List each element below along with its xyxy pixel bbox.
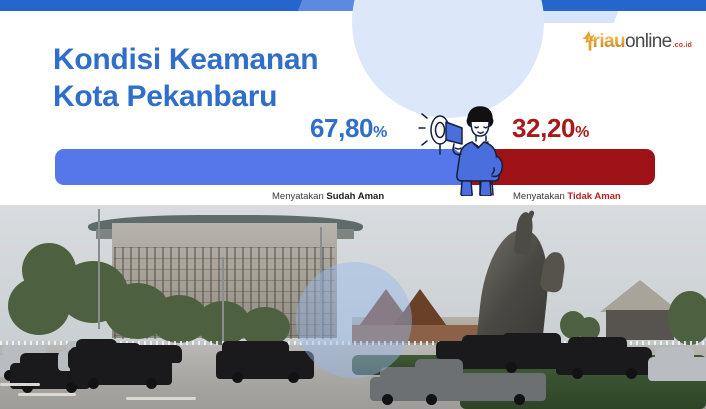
car-roof [502,333,562,345]
title-line-2: Kota Pekanbaru [53,78,318,115]
car-roof [568,337,628,349]
tree [668,291,706,345]
caption-sudah-aman: Menyatakan Sudah Aman [272,191,384,202]
caption-strong-right: Tidak Aman [567,191,620,202]
stacked-percentage-bar [55,149,655,185]
caption-tidak-aman: Menyatakan Tidak Aman [513,191,621,202]
pavilion-roof [600,280,680,312]
car-roof [84,347,146,359]
car-wheel [626,368,637,379]
caption-strong-left: Sudah Aman [326,191,384,202]
logo-word-online: online [625,32,672,51]
truck-wheel [514,394,525,405]
car-wheel [88,378,99,389]
percent-symbol-right: % [575,124,589,141]
car-wheel [572,368,583,379]
caption-prefix-right: Menyatakan [513,191,567,202]
riauonline-logo[interactable]: riau online .co.id [582,31,692,51]
car-roof [380,367,430,379]
car-suv [556,347,652,375]
road-marking [0,383,40,386]
title-line-1: Kondisi Keamanan [53,41,318,78]
caption-prefix-left: Menyatakan [272,191,326,202]
car-wheel [426,394,437,405]
car-wheel [382,394,393,405]
stat-number-left: 67,80 [310,113,373,143]
percent-symbol-left: % [373,124,387,141]
logo-tld: .co.id [673,42,692,49]
road-marking [126,397,196,400]
tree [8,277,70,335]
car-wheel [288,372,299,383]
page-title: Kondisi Keamanan Kota Pekanbaru [53,41,318,115]
van-roof [655,347,693,359]
car-wheel [232,372,243,383]
stat-number-right: 32,20 [512,113,575,143]
white-van [648,357,706,381]
car-suv [72,357,172,385]
stat-value-tidak-aman: 32,20% [512,113,589,144]
decorative-circle-photo [296,262,412,378]
street-light [222,257,224,343]
car-wheel [506,362,517,373]
flame-icon [582,31,595,51]
car-wheel [146,378,157,389]
pavilion-body [606,310,674,340]
street-light [98,209,100,329]
person-with-megaphone-illustration [418,96,514,196]
car [222,341,288,359]
road-marking [18,393,76,396]
infographic-root: riau online .co.id Kondisi Keamanan Kota… [0,0,706,409]
logo-word-riau: riau [593,32,625,51]
stat-value-sudah-aman: 67,80% [310,113,387,144]
car [370,377,450,401]
bar-segment-sudah-aman [55,149,462,185]
